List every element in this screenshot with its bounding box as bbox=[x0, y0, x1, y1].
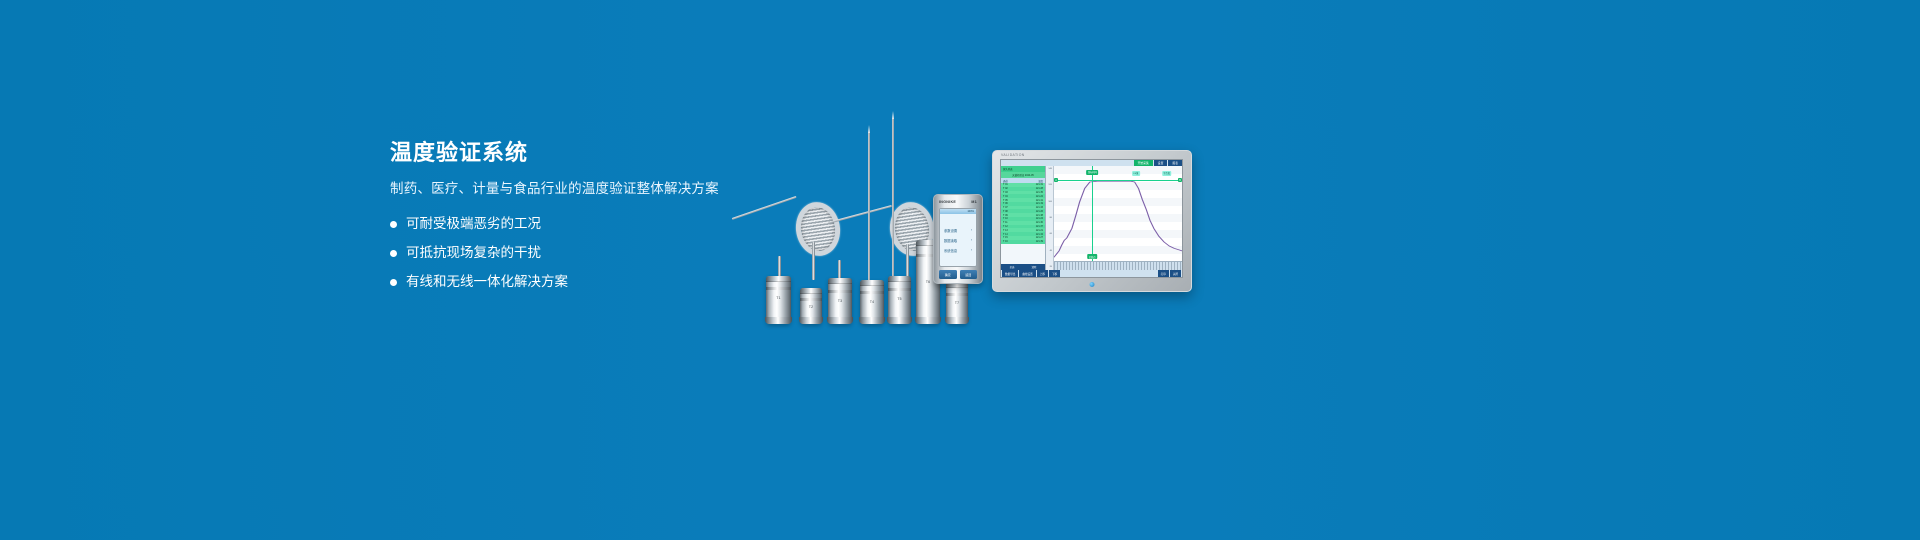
y-tick: 140 bbox=[1048, 168, 1052, 170]
needle-probe-tall bbox=[868, 132, 870, 280]
annotation-plateau: 平台段 bbox=[1162, 171, 1172, 176]
cell-channel: T 10 bbox=[1003, 217, 1008, 220]
column-header-channel: 通道 bbox=[1003, 179, 1008, 183]
handheld-keypad: 确定 返回 bbox=[939, 270, 977, 279]
y-tick: 20 bbox=[1050, 266, 1052, 268]
y-tick: 120 bbox=[1048, 184, 1052, 186]
software-toolbar-bottom: 数据导出 曲线设置 上移 下移 打印 关闭 bbox=[1001, 270, 1182, 277]
probe-stem bbox=[812, 242, 815, 280]
clear-button[interactable]: 清除 bbox=[1032, 265, 1037, 269]
cell-channel: T 13 bbox=[1003, 229, 1008, 232]
data-logger: T4 bbox=[860, 280, 884, 324]
handheld-menu: 参数设置 › 数据读取 › 系统信息 › bbox=[940, 214, 976, 266]
logger-base bbox=[827, 317, 853, 324]
logger-base bbox=[945, 317, 969, 324]
logger-label: T1 bbox=[776, 296, 780, 300]
cell-channel: T 16 bbox=[1003, 240, 1008, 243]
cursor-bottom-tag: 起始点 bbox=[1088, 254, 1098, 259]
probe-coil bbox=[792, 199, 843, 259]
cell-channel: T 02 bbox=[1003, 187, 1008, 190]
move-up-button[interactable]: 上移 bbox=[1037, 270, 1048, 277]
cell-channel: T 08 bbox=[1003, 210, 1008, 213]
cursor-handle-a[interactable]: A bbox=[1054, 178, 1058, 182]
toolbar-spacer bbox=[1061, 270, 1157, 277]
monitor: VALIDATION 开始采集 设置 报表 探头列表 灭菌柜验证 2024- bbox=[992, 150, 1192, 292]
channel-table: 探头列表 灭菌柜验证 2024-05 通道 温度 T 01121.31 T 02… bbox=[1001, 166, 1046, 270]
logger-cap bbox=[766, 276, 791, 282]
chevron-right-icon: › bbox=[971, 248, 972, 252]
logger-band bbox=[888, 288, 911, 291]
feature-label: 可耐受极端恶劣的工况 bbox=[406, 216, 541, 232]
cell-channel: T 05 bbox=[1003, 199, 1008, 202]
logger-cap bbox=[860, 280, 884, 286]
curve-settings-button[interactable]: 曲线设置 bbox=[1019, 270, 1035, 277]
cell-value: 121.24 bbox=[1036, 217, 1043, 220]
brand-label: INGNIKE bbox=[939, 200, 956, 204]
logger-base bbox=[887, 317, 912, 324]
logger-base bbox=[915, 317, 941, 324]
temperature-chart: 140 120 100 80 60 40 20 bbox=[1046, 166, 1182, 270]
cursor-top-tag: 游标时间 bbox=[1087, 170, 1099, 175]
needle-probe-tallest bbox=[892, 118, 894, 280]
logger-label: T2 bbox=[809, 305, 813, 309]
handheld-brand-row: INGNIKE M1 bbox=[939, 200, 977, 204]
cell-value: 121.26 bbox=[1036, 210, 1043, 213]
cell-value: 121.31 bbox=[1036, 183, 1043, 186]
plot-area: A B 游标时间 起始点 F0值 平台段 bbox=[1054, 166, 1182, 262]
cell-value: 121.22 bbox=[1036, 195, 1043, 198]
probe-stem bbox=[838, 260, 841, 280]
logger-label: T7 bbox=[955, 301, 959, 305]
cell-channel: T 01 bbox=[1003, 183, 1008, 186]
probe-cable bbox=[732, 196, 797, 220]
handheld-reader[interactable]: INGNIKE M1 100% 参数设置 › 数据读取 › bbox=[933, 194, 983, 284]
menu-item-label: 参数设置 bbox=[944, 228, 957, 233]
menu-item-label: 数据读取 bbox=[944, 238, 957, 243]
back-button[interactable]: 返回 bbox=[960, 270, 978, 279]
logger-label: T6 bbox=[926, 280, 930, 284]
logger-base bbox=[765, 317, 792, 324]
cell-value: 121.27 bbox=[1036, 236, 1043, 239]
table-title: 探头列表 bbox=[1003, 167, 1013, 171]
software-screen: 开始采集 设置 报表 探头列表 灭菌柜验证 2024-05 通道 温度 bbox=[1000, 159, 1183, 278]
column-header-value: 温度 bbox=[1038, 179, 1043, 183]
bullet-dot-icon bbox=[390, 250, 397, 257]
menu-item[interactable]: 系统信息 › bbox=[944, 248, 972, 253]
print-button[interactable]: 打印 bbox=[1158, 270, 1169, 277]
cell-value: 121.34 bbox=[1036, 233, 1043, 236]
y-tick: 80 bbox=[1050, 217, 1052, 219]
logger-band bbox=[828, 290, 852, 293]
confirm-button[interactable]: 确定 bbox=[939, 270, 957, 279]
logger-cap bbox=[828, 278, 852, 284]
logger-band bbox=[766, 287, 791, 290]
cell-channel: T 03 bbox=[1003, 191, 1008, 194]
bullet-dot-icon bbox=[390, 221, 397, 228]
cell-value: 121.39 bbox=[1036, 240, 1043, 243]
menu-item-label: 系统信息 bbox=[944, 248, 957, 253]
cell-channel: T 07 bbox=[1003, 206, 1008, 209]
data-logger: T2 bbox=[800, 288, 822, 324]
cell-channel: T 04 bbox=[1003, 195, 1008, 198]
logger-band bbox=[800, 298, 822, 301]
menu-item[interactable]: 数据读取 › bbox=[944, 238, 972, 243]
cursor-handle-b[interactable]: B bbox=[1178, 178, 1182, 182]
probe-cable bbox=[828, 205, 892, 224]
chevron-right-icon: › bbox=[971, 228, 972, 232]
menu-item[interactable]: 参数设置 › bbox=[944, 228, 972, 233]
feature-label: 有线和无线一体化解决方案 bbox=[406, 274, 568, 290]
handheld-screen: 100% 参数设置 › 数据读取 › 系统信息 › bbox=[939, 208, 977, 267]
cursor-vertical[interactable] bbox=[1092, 166, 1093, 262]
cell-value: 121.35 bbox=[1036, 191, 1043, 194]
data-logger: T1 bbox=[766, 276, 791, 324]
chevron-right-icon: › bbox=[971, 238, 972, 242]
logger-label: T5 bbox=[897, 297, 901, 301]
logger-base bbox=[799, 317, 823, 324]
cell-channel: T 14 bbox=[1003, 233, 1008, 236]
logger-label: T3 bbox=[838, 299, 842, 303]
logger-cap bbox=[888, 276, 911, 282]
cell-value: 121.41 bbox=[1036, 199, 1043, 202]
select-all-button[interactable]: 全选 bbox=[1010, 265, 1015, 269]
hero-banner: 温度验证系统 制药、医疗、计量与食品行业的温度验证整体解决方案 可耐受极端恶劣的… bbox=[0, 0, 1920, 540]
cell-value: 121.33 bbox=[1036, 206, 1043, 209]
cell-value: 121.30 bbox=[1036, 221, 1043, 224]
cell-channel: T 12 bbox=[1003, 225, 1008, 228]
logger-band bbox=[860, 291, 884, 294]
cell-value: 121.38 bbox=[1036, 214, 1043, 217]
y-tick: 40 bbox=[1050, 250, 1052, 252]
export-data-button[interactable]: 数据导出 bbox=[1002, 270, 1018, 277]
data-logger: T3 bbox=[828, 278, 852, 324]
cell-channel: T 11 bbox=[1003, 221, 1008, 224]
cell-value: 121.21 bbox=[1036, 229, 1043, 232]
data-logger: T7 bbox=[946, 282, 968, 324]
cursor-horizontal[interactable] bbox=[1054, 180, 1182, 181]
y-tick: 60 bbox=[1050, 233, 1052, 235]
software-body: 探头列表 灭菌柜验证 2024-05 通道 温度 T 01121.31 T 02… bbox=[1001, 166, 1182, 270]
cell-value: 121.37 bbox=[1036, 225, 1043, 228]
model-label: M1 bbox=[971, 200, 977, 204]
cell-value: 121.19 bbox=[1036, 202, 1043, 205]
cell-channel: T 06 bbox=[1003, 202, 1008, 205]
feature-label: 可抵抗现场复杂的干扰 bbox=[406, 245, 541, 261]
timeline-scrollbar[interactable] bbox=[1054, 261, 1182, 270]
battery-label: 100% bbox=[967, 210, 974, 213]
logger-band bbox=[946, 293, 968, 296]
data-logger: T5 bbox=[888, 276, 911, 324]
cell-channel: T 09 bbox=[1003, 214, 1008, 217]
cell-value: 121.28 bbox=[1036, 187, 1043, 190]
table-body: T 01121.31 T 02121.28 T 03121.35 T 04121… bbox=[1001, 183, 1045, 264]
logger-cap bbox=[800, 288, 822, 294]
y-tick: 100 bbox=[1048, 201, 1052, 203]
annotation-f0: F0值 bbox=[1132, 171, 1140, 176]
close-button[interactable]: 关闭 bbox=[1170, 270, 1181, 277]
product-scene: T1 T2 T3 T4 T5 bbox=[720, 110, 1240, 330]
probe-stem bbox=[906, 244, 909, 280]
cell-channel: T 15 bbox=[1003, 236, 1008, 239]
logger-base bbox=[859, 317, 885, 324]
y-axis: 140 120 100 80 60 40 20 bbox=[1046, 166, 1054, 270]
monitor-vendor-mark: VALIDATION bbox=[1001, 153, 1025, 157]
bullet-dot-icon bbox=[390, 279, 397, 286]
move-down-button[interactable]: 下移 bbox=[1049, 270, 1060, 277]
logger-label: T4 bbox=[870, 300, 874, 304]
table-row[interactable]: T 16121.39 bbox=[1001, 240, 1045, 244]
